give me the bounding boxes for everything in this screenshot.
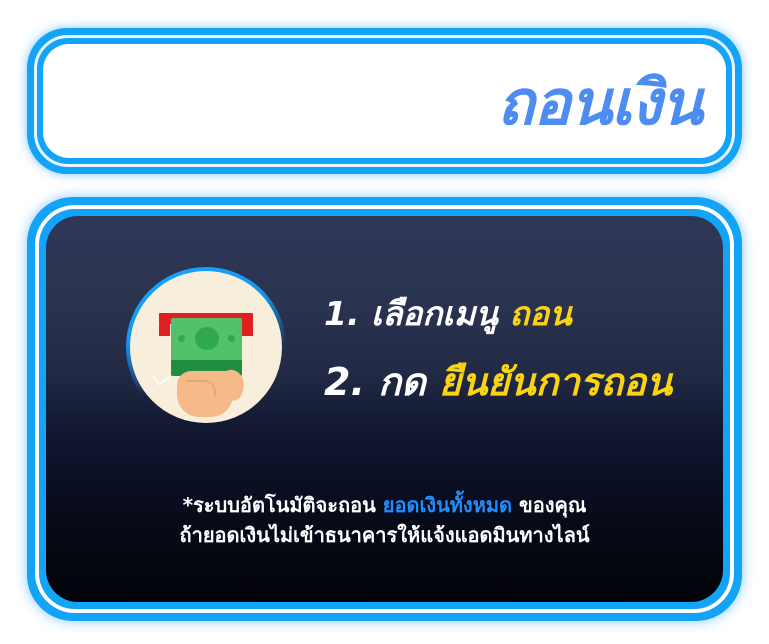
step-2-text: กด <box>378 360 426 404</box>
step-2-highlight: ยืนยันการถอน <box>439 360 672 404</box>
footer-line-1-highlight: ยอดเงินทั้งหมด <box>383 493 512 517</box>
hand-finger-crease <box>186 380 216 396</box>
promo-banner: ถอนเงิน <box>0 0 769 644</box>
banknote-portrait-oval <box>195 327 219 350</box>
banknote-mark-left <box>178 335 185 342</box>
footer-line-1: *ระบบอัตโนมัติจะถอน ยอดเงินทั้งหมด ของคุ… <box>46 490 723 520</box>
header-card-inner: ถอนเงิน <box>43 44 726 158</box>
footer-line-1-suffix: ของคุณ <box>519 493 586 517</box>
step-item-1: 1. เลือกเมนู ถอน <box>324 296 723 332</box>
step-1-text: เลือกเมนู <box>371 294 498 333</box>
footer-line-2: ถ้ายอดเงินไม่เข้าธนาคารให้แจ้งแอดมินทางไ… <box>46 520 723 550</box>
atm-cash-withdraw-icon <box>130 271 282 423</box>
main-card-inner: 1. เลือกเมนู ถอน 2. กด ยืนยันการถอน <box>46 216 723 602</box>
banknote-icon <box>171 318 242 376</box>
header-card-border: ถอนเงิน <box>34 35 735 167</box>
footer-line-1-prefix: *ระบบอัตโนมัติจะถอน <box>183 493 376 517</box>
main-card-border: 1. เลือกเมนู ถอน 2. กด ยืนยันการถอน <box>35 205 734 613</box>
page-title: ถอนเงิน <box>497 72 702 134</box>
banknote-mark-right <box>228 335 235 342</box>
header-card: ถอนเงิน <box>27 28 742 174</box>
step-1-number: 1. <box>324 294 360 333</box>
icon-circle-background <box>130 271 282 423</box>
instructions-row: 1. เลือกเมนู ถอน 2. กด ยืนยันการถอน <box>46 216 723 478</box>
step-item-2: 2. กด ยืนยันการถอน <box>324 362 723 404</box>
footer-note: *ระบบอัตโนมัติจะถอน ยอดเงินทั้งหมด ของคุ… <box>46 490 723 550</box>
step-1-highlight: ถอน <box>509 294 571 333</box>
step-2-number: 2. <box>324 360 365 404</box>
main-card: 1. เลือกเมนู ถอน 2. กด ยืนยันการถอน <box>27 197 742 621</box>
sparkle-icon <box>152 368 170 386</box>
steps-list: 1. เลือกเมนู ถอน 2. กด ยืนยันการถอน <box>324 290 723 404</box>
banknote-face <box>171 318 242 360</box>
